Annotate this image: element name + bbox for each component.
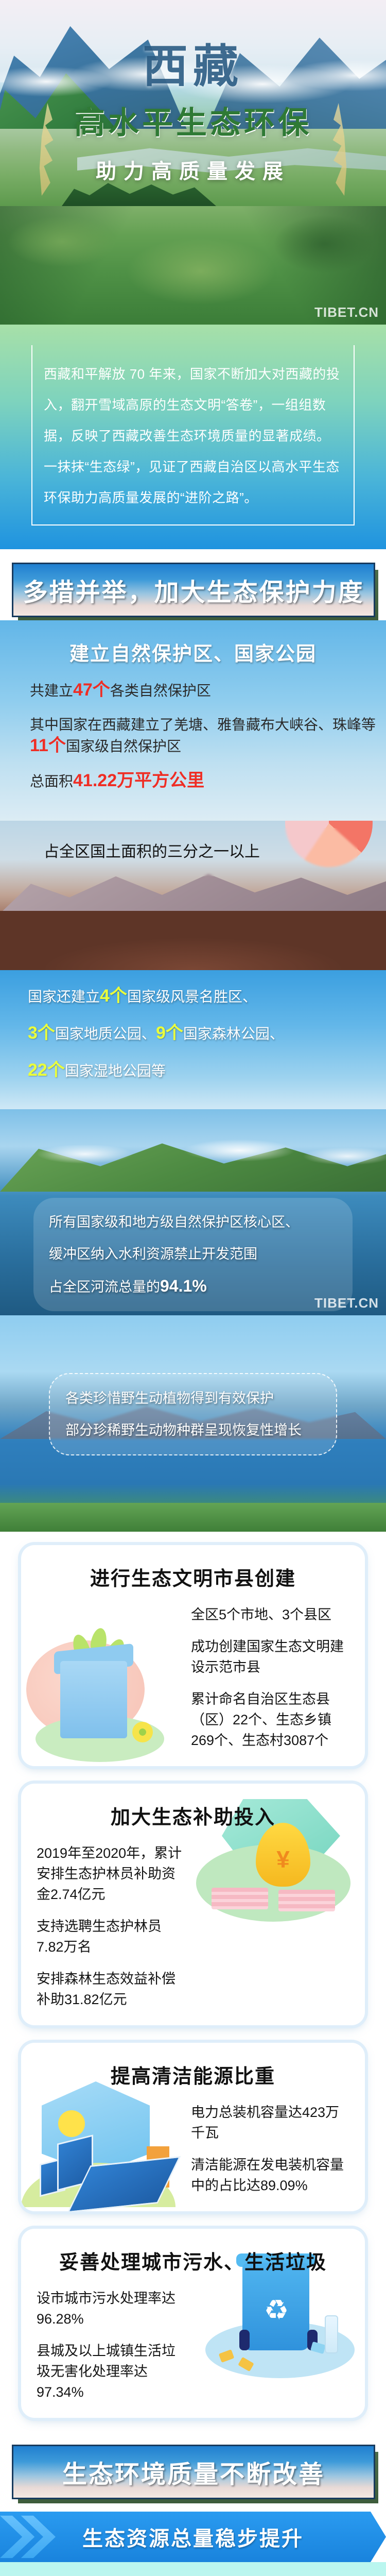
block-protected-areas: 建立自然保护区、国家公园 共建立47个各类自然保护区 其中国家在西藏建立了羌塘、…	[0, 620, 386, 821]
parks-line-1: 国家还建立4个国家级风景名胜区、	[28, 986, 386, 1007]
intro-section: 西藏和平解放 70 年来，国家不断加大对西藏的投入，翻开雪域高原的生态文明“答卷…	[0, 325, 386, 549]
photo-lake-hills: 所有国家级和地方级自然保护区核心区、 缓冲区纳入水利资源禁止开发范围 占全区河流…	[0, 1109, 386, 1315]
np-l3-num: 22个	[28, 1060, 65, 1080]
card-eco-city-county: 进行生态文明市县创建 全区5个市地、3个县区 成功创建国家生态文明建设示范市县 …	[21, 1545, 365, 1766]
infographic-page: 西藏 高水平生态环保 助力高质量发展 TIBET.CN 西藏和平解放 70 年来…	[0, 0, 386, 2576]
card-title: 加大生态补助投入	[37, 1801, 349, 1829]
watermark: TIBET.CN	[314, 1512, 379, 1528]
np-l1-post: 国家级风景名胜区、	[127, 989, 257, 1005]
hero-title-main: 高水平生态环保	[0, 98, 386, 143]
wildlife-line-1: 各类珍惜野生动植物得到有效保护	[65, 1387, 321, 1409]
np-l2-num-b: 9个	[156, 1023, 183, 1043]
pa-l2-num: 11个	[30, 736, 66, 755]
card-title: 提高清洁能源比重	[37, 2060, 349, 2089]
w-l3-pre: 占全区河流总量的	[49, 1279, 160, 1295]
pa-l2-post: 国家级自然保护区	[66, 738, 181, 754]
water-protection-panel: 所有国家级和地方级自然保护区核心区、 缓冲区纳入水利资源禁止开发范围 占全区河流…	[33, 1198, 353, 1311]
block-eco-resources: 西藏生态红线面积53.9万平方公里 占全区国土面积的45% 2020年，全区森林…	[0, 2562, 386, 2576]
protected-areas-line-4: 占全区国土面积的三分之一以上	[44, 841, 342, 863]
card-line: 成功创建国家生态文明建设示范市县	[191, 1636, 349, 1677]
card-title: 进行生态文明市县创建	[37, 1563, 349, 1591]
ribbon-eco-resources: 生态资源总量稳步提升	[0, 2512, 386, 2562]
card-line: 设市城市污水处理率达96.28%	[37, 2288, 185, 2329]
card-line: 清洁能源在发电装机容量中的占比达89.09%	[191, 2155, 349, 2196]
card-line: 县城及以上城镇生活垃圾无害化处理率达97.34%	[37, 2341, 185, 2402]
hero-banner: 西藏 高水平生态环保 助力高质量发展	[0, 0, 386, 206]
protected-areas-line-3: 总面积41.22万平方公里	[30, 770, 386, 792]
card-line: 累计命名自治区生态县（区）22个、生态乡镇269个、生态村3087个	[191, 1689, 349, 1751]
solar-panel-icon	[21, 2077, 191, 2211]
parks-line-3: 22个国家湿地公园等	[28, 1060, 386, 1081]
house-icon	[26, 1630, 181, 1766]
card-waste-treatment: ♻ 妥善处理城市污水、生活垃圾 设市城市污水处理率达96.28% 县城及以上城镇…	[21, 2229, 365, 2418]
wildlife-line-2: 部分珍稀野生动物种群呈现恢复性增长	[65, 1419, 321, 1441]
pa-l1-num: 47个	[73, 680, 110, 700]
np-l2-num-a: 3个	[28, 1023, 55, 1043]
pa-l3-num: 41.22万平方公里	[73, 771, 204, 790]
np-l1-num: 4个	[100, 986, 127, 1006]
card-line: 支持选聘生态护林员7.82万名	[37, 1916, 185, 1957]
pa-l1-pre: 共建立	[30, 683, 73, 699]
card-line: 全区5个市地、3个县区	[191, 1604, 349, 1625]
section-2-heading-text: 生态环境质量不断改善	[62, 2454, 325, 2490]
water-line-3: 占全区河流总量的94.1%	[49, 1275, 337, 1298]
section-1-heading-text: 多措并举，加大生态保护力度	[23, 572, 364, 608]
card-clean-energy: 提高清洁能源比重 电力总装机容量达423万千瓦 清洁能源在发电装机容量中的占比达…	[21, 2043, 365, 2211]
section-1-heading-plate: 多措并举，加大生态保护力度	[12, 563, 375, 617]
card-line: 2019年至2020年，累计安排生态护林员补助资金2.74亿元	[37, 1843, 185, 1905]
watermark: TIBET.CN	[314, 304, 379, 320]
wildlife-panel: 各类珍惜野生动植物得到有效保护 部分珍稀野生动物种群呈现恢复性增长	[49, 1373, 337, 1455]
section-1-heading: 多措并举，加大生态保护力度	[12, 563, 374, 620]
watermark: TIBET.CN	[314, 950, 379, 966]
photo-namtso-lake: 各类珍惜野生动植物得到有效保护 部分珍稀野生动物种群呈现恢复性增长 TIBET.…	[0, 1315, 386, 1532]
np-l2-mid-b: 国家森林公园、	[183, 1026, 284, 1042]
card-line: 安排森林生态效益补偿补助31.82亿元	[37, 1969, 185, 2010]
pa-l1-post: 各类自然保护区	[110, 683, 211, 699]
intro-paragraph: 西藏和平解放 70 年来，国家不断加大对西藏的投入，翻开雪域高原的生态文明“答卷…	[44, 359, 342, 513]
cards-section: 进行生态文明市县创建 全区5个市地、3个县区 成功创建国家生态文明建设示范市县 …	[0, 1532, 386, 2431]
card-title: 妥善处理城市污水、生活垃圾	[37, 2246, 349, 2275]
kiang-silhouettes	[0, 907, 386, 930]
pa-l2-pre: 其中国家在西藏建立了羌塘、雅鲁藏布大峡谷、珠峰等	[30, 717, 376, 733]
card-body: 全区5个市地、3个县区 成功创建国家生态文明建设示范市县 累计命名自治区生态县（…	[191, 1604, 349, 1751]
water-line-2: 缓冲区纳入水利资源禁止开发范围	[49, 1243, 337, 1265]
card-eco-subsidy: 加大生态补助投入 2019年至2020年，累计安排生态护林员补助资金2.74亿元…	[21, 1784, 365, 2025]
photo-valley-village: TIBET.CN	[0, 206, 386, 325]
section-2-heading-plate: 生态环境质量不断改善	[12, 2445, 375, 2499]
parks-line-2: 3个国家地质公园、9个国家森林公园、	[28, 1023, 386, 1044]
np-l2-mid-a: 国家地质公园、	[55, 1026, 156, 1042]
card-body: 电力总装机容量达423万千瓦 清洁能源在发电装机容量中的占比达89.09%	[191, 2102, 349, 2196]
np-l1-pre: 国家还建立	[28, 989, 100, 1005]
protected-areas-line-1: 共建立47个各类自然保护区	[30, 680, 386, 701]
ribbon-label: 生态资源总量稳步提升	[82, 2522, 304, 2552]
protected-areas-title: 建立自然保护区、国家公园	[0, 638, 386, 666]
section-2-heading: 生态环境质量不断改善	[12, 2445, 374, 2502]
block-national-parks: 国家还建立4个国家级风景名胜区、 3个国家地质公园、9个国家森林公园、 22个国…	[0, 970, 386, 1109]
card-line: 电力总装机容量达423万千瓦	[191, 2102, 349, 2143]
photo-kiang-herd: 占全区国土面积的三分之一以上 TIBET.CN	[0, 821, 386, 970]
np-l3-post: 国家湿地公园等	[65, 1063, 166, 1079]
water-line-1: 所有国家级和地方级自然保护区核心区、	[49, 1211, 337, 1233]
protected-areas-line-2: 其中国家在西藏建立了羌塘、雅鲁藏布大峡谷、珠峰等11个国家级自然保护区	[30, 715, 386, 757]
hero-title-region: 西藏	[0, 30, 386, 95]
w-l3-num: 94.1%	[160, 1277, 207, 1295]
card-body: 2019年至2020年，累计安排生态护林员补助资金2.74亿元 支持选聘生态护林…	[37, 1843, 185, 2010]
intro-box: 西藏和平解放 70 年来，国家不断加大对西藏的投入，翻开雪域高原的生态文明“答卷…	[31, 345, 355, 526]
protected-areas-line-4-wrap: 占全区国土面积的三分之一以上	[28, 828, 358, 876]
watermark: TIBET.CN	[314, 1295, 379, 1311]
pa-l3-pre: 总面积	[30, 773, 73, 789]
card-body: 设市城市污水处理率达96.28% 县城及以上城镇生活垃圾无害化处理率达97.34…	[37, 2288, 185, 2402]
hero-title-sub: 助力高质量发展	[0, 155, 386, 184]
